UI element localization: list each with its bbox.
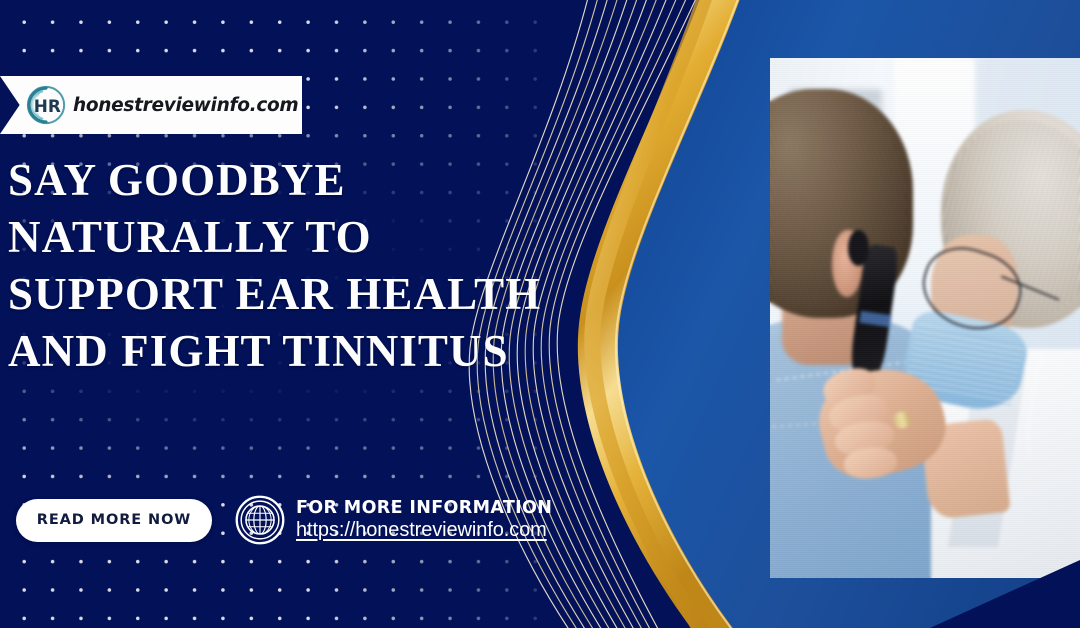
svg-text:HR: HR [34,96,61,116]
info-block: FOR MORE INFORMATION https://honestrevie… [296,499,552,541]
site-name-label: honestreviewinfo.com [73,95,298,116]
headline-line-4: AND FIGHT TINNITUS [8,323,568,380]
brand-banner[interactable]: HR honestreviewinfo.com [0,76,302,134]
headline-line-2: NATURALLY TO [8,209,568,266]
headline-line-3: SUPPORT EAR HEALTH [8,266,568,323]
globe-icon-wrap[interactable] [234,494,286,546]
info-title: FOR MORE INFORMATION [296,499,552,517]
headline-line-1: SAY GOODBYE [8,152,568,209]
globe-icon [235,495,285,545]
read-more-button[interactable]: READ MORE NOW [16,499,212,542]
promo-banner: HR honestreviewinfo.com SAY GOODBYE NATU… [0,0,1080,628]
hero-photo [770,58,1080,578]
hr-monogram-icon: HR [26,85,66,125]
info-url-link[interactable]: https://honestreviewinfo.com [296,520,552,541]
photo-grain [770,58,1080,578]
cta-row: READ MORE NOW FOR MORE INFORMATION https… [16,488,576,552]
headline: SAY GOODBYE NATURALLY TO SUPPORT EAR HEA… [8,152,568,380]
